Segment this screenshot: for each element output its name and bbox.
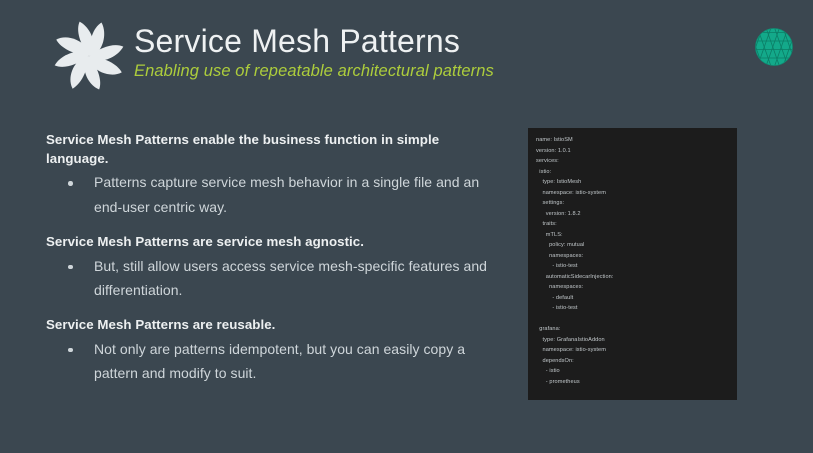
block-heading: Service Mesh Patterns are reusable. bbox=[46, 316, 446, 335]
content-block: Service Mesh Patterns are reusable. Not … bbox=[46, 316, 506, 385]
pinwheel-star-logo-icon bbox=[48, 17, 130, 95]
content-bullets-column: Service Mesh Patterns enable the busines… bbox=[46, 131, 506, 386]
page-subtitle: Enabling use of repeatable architectural… bbox=[134, 62, 494, 81]
bullet-dot-icon bbox=[68, 265, 73, 270]
bullet-list: Patterns capture service mesh behavior i… bbox=[46, 170, 506, 219]
list-item: Not only are patterns idempotent, but yo… bbox=[46, 337, 502, 386]
block-heading: Service Mesh Patterns enable the busines… bbox=[46, 131, 446, 168]
block-heading: Service Mesh Patterns are service mesh a… bbox=[46, 233, 446, 252]
content-block: Service Mesh Patterns are service mesh a… bbox=[46, 233, 506, 302]
slide-canvas: Service Mesh Patterns Enabling use of re… bbox=[0, 0, 813, 453]
list-item-text: Patterns capture service mesh behavior i… bbox=[94, 174, 479, 214]
list-item: But, still allow users access service me… bbox=[46, 254, 502, 303]
list-item: Patterns capture service mesh behavior i… bbox=[46, 170, 502, 219]
bullet-list: But, still allow users access service me… bbox=[46, 254, 506, 303]
bullet-dot-icon bbox=[68, 181, 73, 186]
bullet-dot-icon bbox=[68, 348, 73, 353]
title-block: Service Mesh Patterns Enabling use of re… bbox=[134, 24, 494, 81]
mesh-sphere-icon bbox=[749, 22, 799, 72]
slide-header: Service Mesh Patterns Enabling use of re… bbox=[0, 0, 813, 100]
yaml-code-text: name: IstioSM version: 1.0.1 services: i… bbox=[536, 135, 737, 400]
list-item-text: Not only are patterns idempotent, but yo… bbox=[94, 341, 465, 381]
page-title: Service Mesh Patterns bbox=[134, 24, 494, 59]
yaml-code-panel: name: IstioSM version: 1.0.1 services: i… bbox=[528, 128, 737, 400]
content-block: Service Mesh Patterns enable the busines… bbox=[46, 131, 506, 219]
list-item-text: But, still allow users access service me… bbox=[94, 258, 487, 298]
bullet-list: Not only are patterns idempotent, but yo… bbox=[46, 337, 506, 386]
